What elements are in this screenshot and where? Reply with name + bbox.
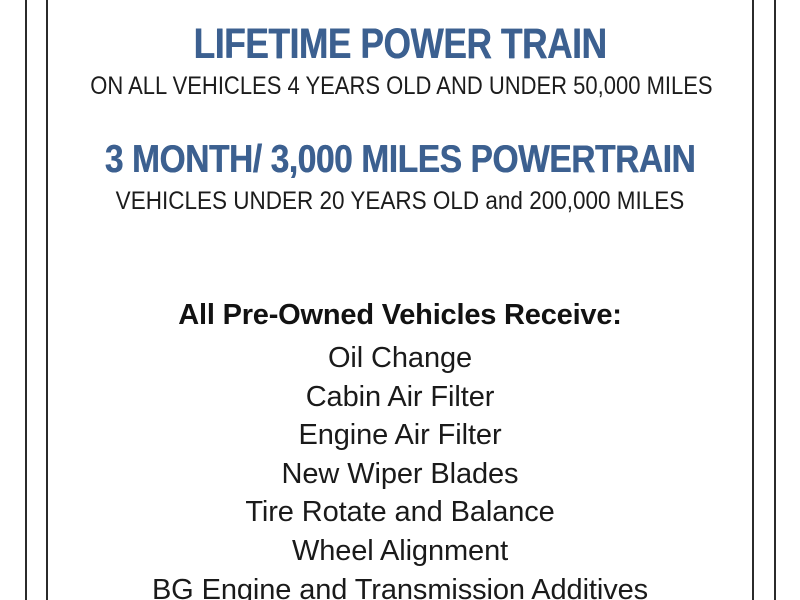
services-heading: All Pre-Owned Vehicles Receive: bbox=[48, 299, 752, 331]
warranty-block-lifetime-powertrain: LIFETIME POWER TRAIN ON ALL VEHICLES 4 Y… bbox=[48, 22, 752, 100]
list-item: Tire Rotate and Balance bbox=[48, 493, 752, 532]
left-outer-border-rule bbox=[25, 0, 27, 600]
three-month-powertrain-subheading: VEHICLES UNDER 20 YEARS OLD and 200,000 … bbox=[83, 180, 717, 215]
warranty-flyer: LIFETIME POWER TRAIN ON ALL VEHICLES 4 Y… bbox=[0, 0, 800, 600]
pre-owned-services-section: All Pre-Owned Vehicles Receive: Oil Chan… bbox=[48, 299, 752, 600]
lifetime-powertrain-subheading: ON ALL VEHICLES 4 YEARS OLD AND UNDER 50… bbox=[90, 66, 710, 100]
lifetime-powertrain-heading: LIFETIME POWER TRAIN bbox=[111, 22, 688, 66]
list-item: New Wiper Blades bbox=[48, 455, 752, 494]
list-item: BG Engine and Transmission Additives bbox=[48, 571, 752, 600]
flyer-content: LIFETIME POWER TRAIN ON ALL VEHICLES 4 Y… bbox=[48, 0, 752, 600]
list-item: Engine Air Filter bbox=[48, 416, 752, 455]
warranty-block-3month-powertrain: 3 MONTH/ 3,000 MILES POWERTRAIN VEHICLES… bbox=[48, 140, 752, 215]
right-inner-border-rule bbox=[752, 0, 754, 600]
list-item: Wheel Alignment bbox=[48, 532, 752, 571]
services-list: Oil Change Cabin Air Filter Engine Air F… bbox=[48, 339, 752, 600]
list-item: Oil Change bbox=[48, 339, 752, 378]
list-item: Cabin Air Filter bbox=[48, 378, 752, 417]
three-month-powertrain-heading: 3 MONTH/ 3,000 MILES POWERTRAIN bbox=[97, 140, 702, 180]
right-outer-border-rule bbox=[774, 0, 776, 600]
